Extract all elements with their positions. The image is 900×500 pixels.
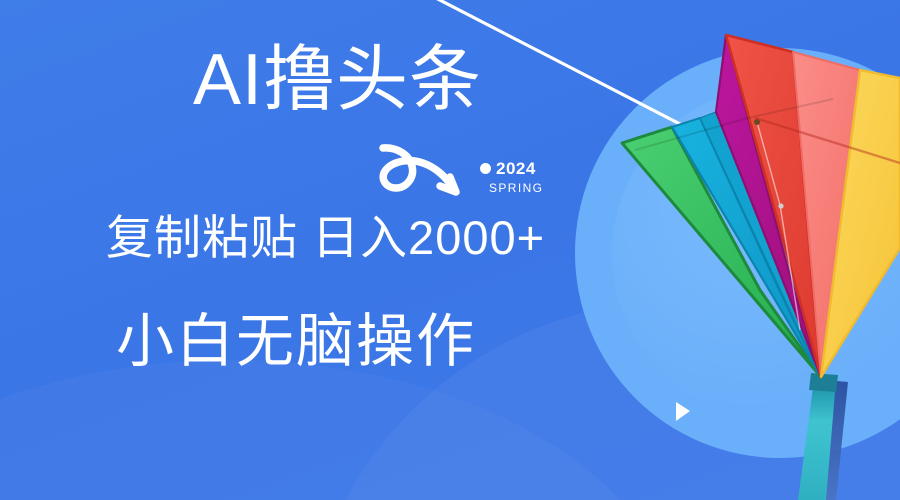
badge-year: 2024 [496, 160, 536, 177]
poster-canvas: AI撸头条 2024 SPRING 复制粘贴 日入2000+ 小白无脑操作 [0, 0, 900, 500]
subtitle-line-2: 小白无脑操作 [116, 313, 476, 371]
page-title: AI撸头条 [193, 44, 482, 116]
season-badge: 2024 SPRING [480, 160, 543, 194]
filled-circle-icon [480, 163, 491, 174]
subtitle-line-1: 复制粘贴 日入2000+ [106, 214, 545, 261]
badge-season: SPRING [489, 182, 543, 194]
badge-top-row: 2024 [480, 160, 543, 177]
